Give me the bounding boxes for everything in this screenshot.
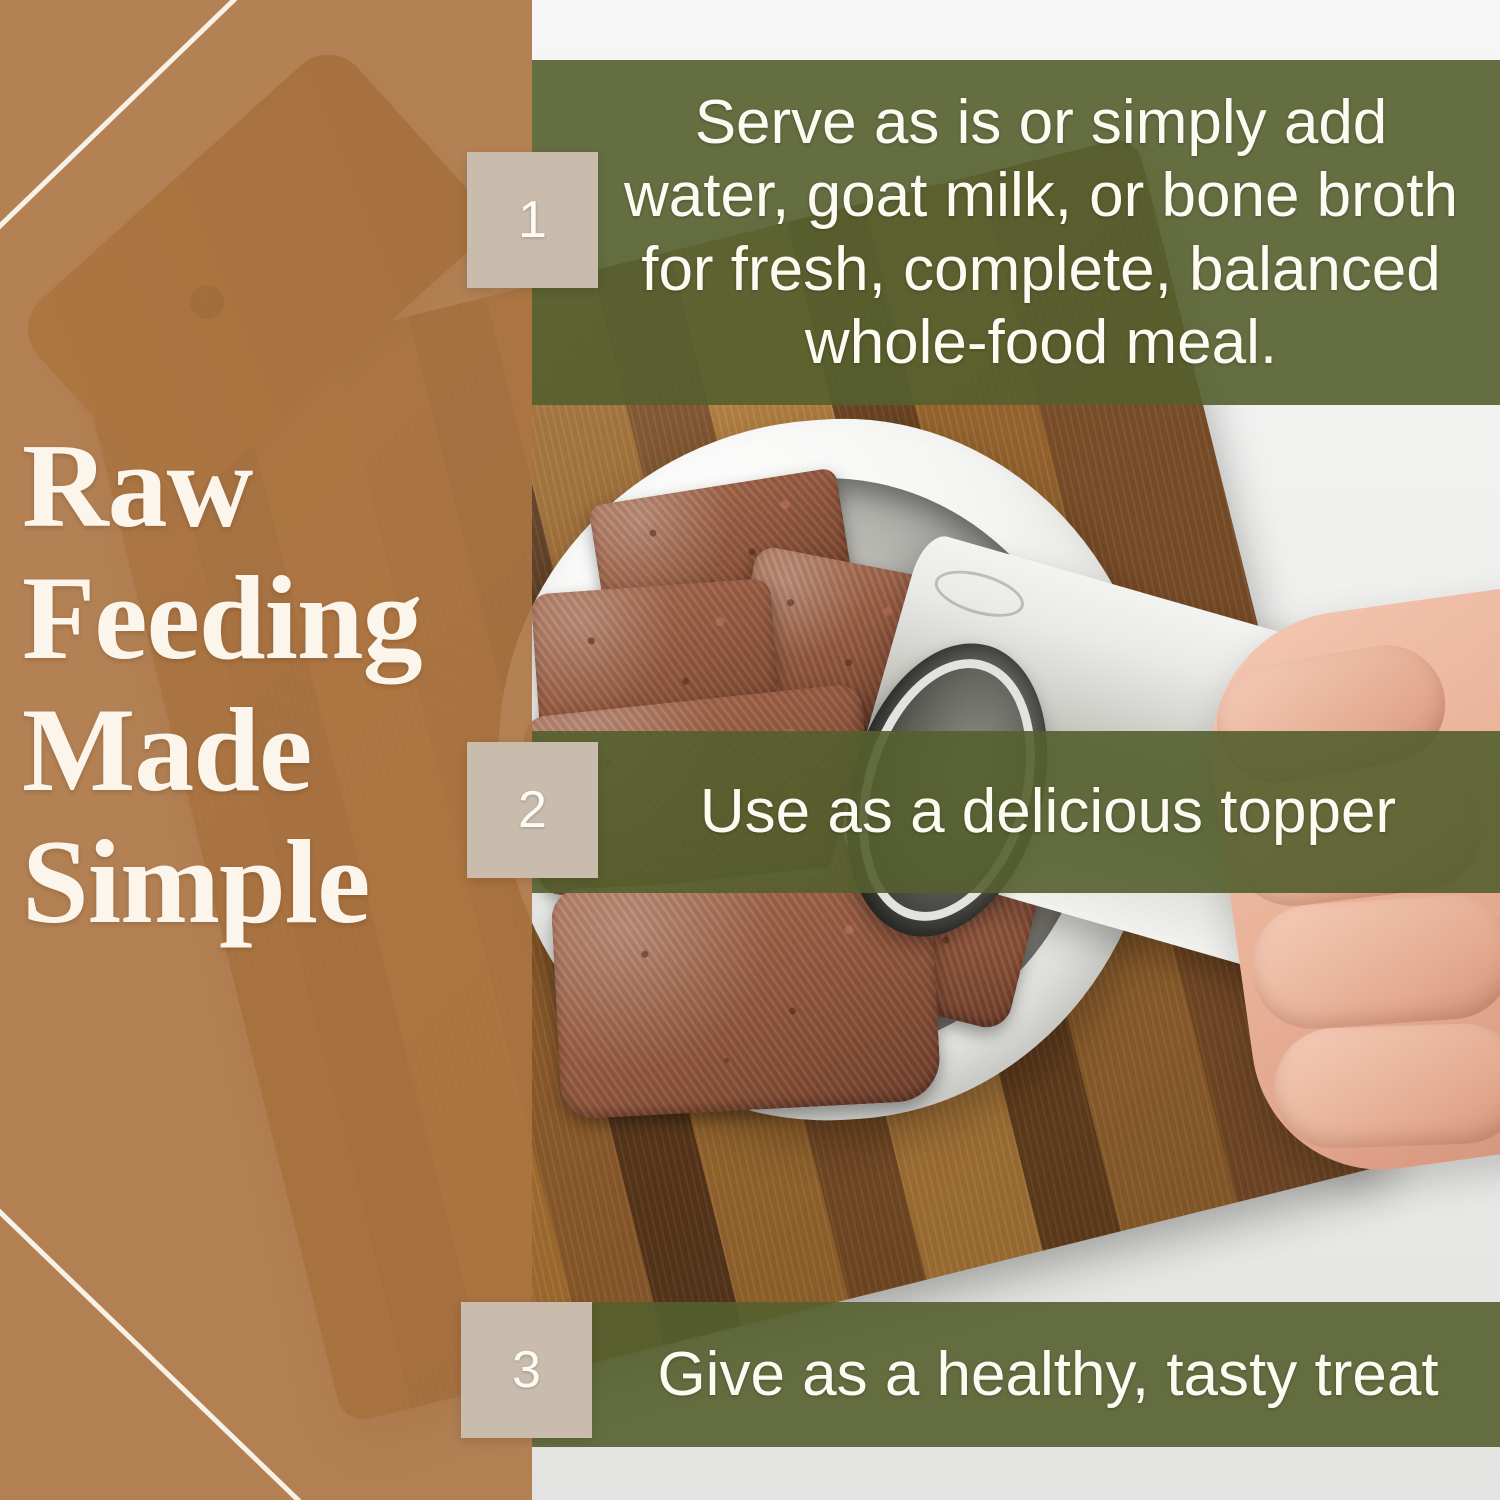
headline-line-4: Simple xyxy=(22,816,522,948)
finger xyxy=(1248,891,1500,1033)
step-number-badge-3: 3 xyxy=(461,1302,592,1438)
step-number-2: 2 xyxy=(518,784,547,836)
headline-line-3: Made xyxy=(22,684,522,816)
step-number-badge-1: 1 xyxy=(467,152,598,288)
step-number-1: 1 xyxy=(518,194,547,246)
step-text-3: Give as a healthy, tasty treat xyxy=(567,1338,1464,1411)
step-text-2: Use as a delicious topper xyxy=(610,775,1422,848)
step-banner-3: Give as a healthy, tasty treat xyxy=(532,1302,1500,1447)
step-banner-1: Serve as is or simply add water, goat mi… xyxy=(532,60,1500,405)
headline-line-1: Raw xyxy=(22,420,522,552)
step-number-badge-2: 2 xyxy=(467,742,598,878)
finger xyxy=(1272,1022,1500,1151)
step-number-3: 3 xyxy=(512,1344,541,1396)
step-text-1: Serve as is or simply add water, goat mi… xyxy=(532,86,1500,379)
poster-canvas: Raw Feeding Made Simple Serve as is or s… xyxy=(0,0,1500,1500)
step-banner-2: Use as a delicious topper xyxy=(532,731,1500,893)
page-title: Raw Feeding Made Simple xyxy=(22,420,522,948)
headline-line-2: Feeding xyxy=(22,552,522,684)
